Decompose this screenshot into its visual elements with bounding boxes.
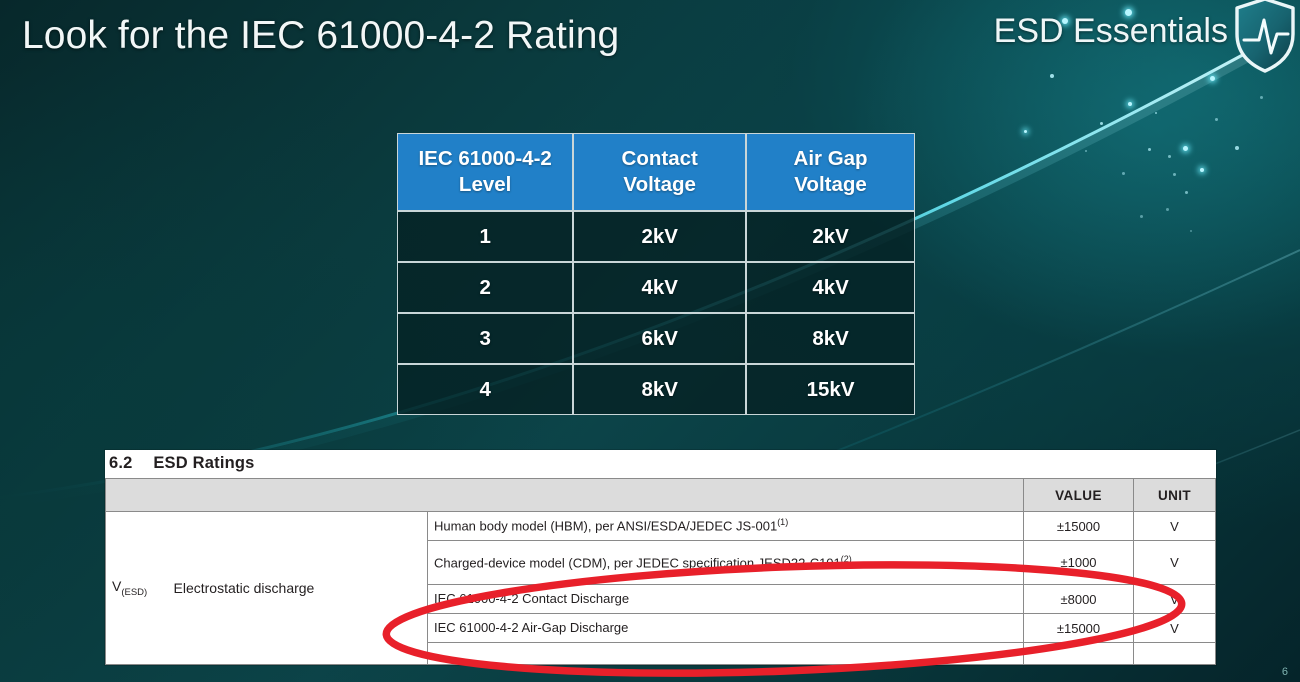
esd-symbol-cell: V(ESD) [106,512,166,665]
iec-cell-contact: 2kV [573,211,746,262]
iec-cell-contact: 4kV [573,262,746,313]
esd-spacer-value [1024,643,1134,665]
table-row: 3 6kV 8kV [397,313,915,364]
iec-cell-level: 1 [397,211,573,262]
iec-cell-airgap: 2kV [746,211,915,262]
iec-cell-level: 3 [397,313,573,364]
iec-header-level: IEC 61000-4-2 Level [397,133,573,211]
esd-spacer-desc [428,643,1024,665]
esd-unit-cell: V [1134,614,1216,643]
iec-cell-airgap: 8kV [746,313,915,364]
iec-cell-level: 4 [397,364,573,415]
esd-header-blank [106,479,1024,512]
esd-header-value: VALUE [1024,479,1134,512]
shield-pulse-logo-icon [1232,0,1298,74]
esd-description-cell: Charged-device model (CDM), per JEDEC sp… [428,541,1024,585]
iec-cell-airgap: 4kV [746,262,915,313]
table-row: 4 8kV 15kV [397,364,915,415]
datasheet-excerpt: 6.2 ESD Ratings VALUE UNIT V(ESD) [105,450,1216,665]
esd-value-cell: ±15000 [1024,512,1134,541]
iec-level-table: IEC 61000-4-2 Level Contact Voltage Air … [397,133,915,415]
slide-number: 6 [1282,666,1288,678]
esd-table-header-row: VALUE UNIT [106,479,1216,512]
iec-cell-level: 2 [397,262,573,313]
footnote-marker: (1) [777,517,788,527]
iec-cell-contact: 6kV [573,313,746,364]
brand-label: ESD Essentials [994,12,1228,51]
page-title: Look for the IEC 61000-4-2 Rating [22,14,619,58]
esd-value-cell: ±1000 [1024,541,1134,585]
esd-unit-cell: V [1134,541,1216,585]
esd-description-cell: IEC 61000-4-2 Contact Discharge [428,585,1024,614]
table-row: 1 2kV 2kV [397,211,915,262]
esd-value-cell: ±8000 [1024,585,1134,614]
section-title: ESD Ratings [153,454,254,472]
esd-description-cell: IEC 61000-4-2 Air-Gap Discharge [428,614,1024,643]
footnote-marker: (2) [841,554,852,564]
datasheet-section-heading: 6.2 ESD Ratings [105,450,1216,478]
esd-parameter-cell: Electrostatic discharge [166,512,428,665]
esd-symbol-subscript: (ESD) [121,587,147,598]
iec-cell-airgap: 15kV [746,364,915,415]
table-row: V(ESD) Electrostatic discharge Human bod… [106,512,1216,541]
iec-table-header-row: IEC 61000-4-2 Level Contact Voltage Air … [397,133,915,211]
esd-ratings-table: VALUE UNIT V(ESD) Electrostatic discharg… [105,478,1216,665]
iec-cell-contact: 8kV [573,364,746,415]
esd-spacer-unit [1134,643,1216,665]
iec-header-air-gap-voltage: Air Gap Voltage [746,133,915,211]
table-row: 2 4kV 4kV [397,262,915,313]
esd-value-cell: ±15000 [1024,614,1134,643]
esd-unit-cell: V [1134,512,1216,541]
iec-header-contact-voltage: Contact Voltage [573,133,746,211]
esd-header-unit: UNIT [1134,479,1216,512]
esd-unit-cell: V [1134,585,1216,614]
section-number: 6.2 [109,454,133,472]
esd-description-cell: Human body model (HBM), per ANSI/ESDA/JE… [428,512,1024,541]
slide-canvas: Look for the IEC 61000-4-2 Rating ESD Es… [0,0,1300,682]
